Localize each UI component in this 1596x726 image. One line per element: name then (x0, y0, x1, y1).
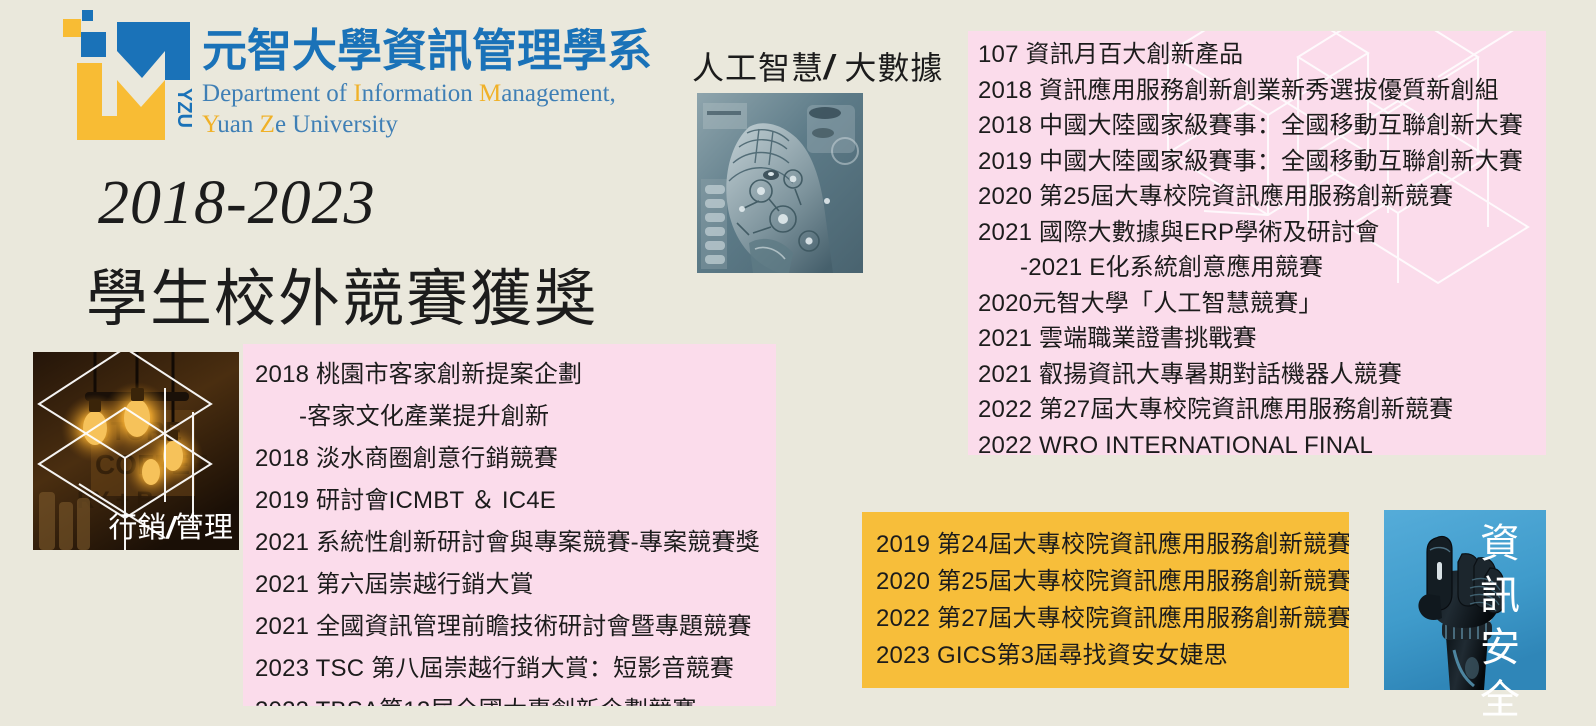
list-item: 2018 淡水商圈創意行銷競賽 (255, 438, 776, 480)
ai-heading-after: 大數據 (834, 50, 943, 86)
list-item: 2021 國際大數據與ERP學術及研討會 (978, 215, 1546, 251)
ai-awards-list: 107 資訊月百大創新產品 2018 資訊應用服務創新創業新秀選拔優質新創組 2… (968, 31, 1546, 455)
list-item: 2022 第27屆大專校院資訊應用服務創新競賽 (876, 600, 1349, 637)
list-item: 2022 WRO INTERNATIONAL FINAL (978, 428, 1546, 456)
list-item: 2023 TSC 第八屆崇越行銷大賞：短影音競賽 (255, 648, 776, 690)
list-item: 2018 資訊應用服務創新創業新秀選拔優質新創組 (978, 73, 1546, 109)
list-item: 2020 第25屆大專校院資訊應用服務創新競賽 (978, 179, 1546, 215)
logo-en1-e: M (479, 80, 501, 107)
logo-en2-b: uan (217, 111, 259, 138)
logo-en1-f: anagement, (501, 80, 616, 107)
security-robotic-hand-photo (1384, 510, 1546, 690)
list-item: 2021 叡揚資訊大專暑期對話機器人競賽 (978, 357, 1546, 393)
list-item: 2021 系統性創新研討會與專案競賽-專案競賽獎 (255, 522, 776, 564)
list-item: 2021 第六屆崇越行銷大賞 (255, 564, 776, 606)
list-item: 2021 雲端職業證書挑戰賽 (978, 321, 1546, 357)
logo-en1-a: D (202, 80, 220, 107)
logo-chinese-name: 元智大學資訊管理學系 (202, 26, 642, 76)
list-item: 2022 第27屆大專校院資訊應用服務創新競賽 (978, 392, 1546, 428)
logo-en2-d: e University (275, 111, 398, 138)
list-item: 2023 TBSA第12屆全國大專創新企劃競賽 (255, 690, 776, 706)
logo-en1-d: nformation (362, 80, 479, 107)
poster-canvas: YZU 元智大學資訊管理學系 Department of Information… (0, 0, 1596, 718)
list-item: -客家文化產業提升創新 (255, 396, 776, 438)
department-logo: YZU 元智大學資訊管理學系 Department of Information… (62, 8, 642, 148)
marketing-awards-panel: 2018 桃園市客家創新提案企劃 -客家文化產業提升創新 2018 淡水商圈創意… (243, 344, 776, 706)
list-item: 2020 第25屆大專校院資訊應用服務創新競賽 (876, 563, 1349, 600)
list-item: 2019 中國大陸國家級賽事：全國移動互聯創新大賽 (978, 144, 1546, 180)
list-item: 2018 桃園市客家創新提案企劃 (255, 354, 776, 396)
ai-awards-panel: 107 資訊月百大創新產品 2018 資訊應用服務創新創業新秀選拔優質新創組 2… (968, 31, 1546, 455)
ai-heading-slash: / (824, 49, 834, 87)
list-item: 107 資訊月百大創新產品 (978, 37, 1546, 73)
logo-en2-a: Y (202, 111, 217, 138)
security-awards-list: 2019 第24屆大專校院資訊應用服務創新競賽 2020 第25屆大專校院資訊應… (862, 512, 1349, 674)
logo-english-line2: Yuan Ze University (202, 109, 642, 140)
logo-text-block: 元智大學資訊管理學系 Department of Information Man… (202, 26, 642, 140)
marketing-awards-list: 2018 桃園市客家創新提案企劃 -客家文化產業提升創新 2018 淡水商圈創意… (243, 344, 776, 706)
list-item: 2020元智大學「人工智慧競賽」 (978, 286, 1546, 322)
logo-en2-c: Z (260, 111, 275, 138)
yzu-logo-mark-icon: YZU (62, 8, 194, 144)
title-year-range: 2018-2023 (98, 168, 376, 239)
list-item: 2019 研討會ICMBT ＆ IC4E (255, 480, 776, 522)
list-item: 2018 中國大陸國家級賽事：全國移動互聯創新大賽 (978, 108, 1546, 144)
svg-text:YZU: YZU (173, 88, 194, 128)
list-item: 2023 GICS第3屆尋找資安女婕思 (876, 637, 1349, 674)
ai-robotic-face-photo (697, 93, 863, 273)
logo-en1-c: I (353, 80, 361, 107)
page-title: 學生校外競賽獲獎 (86, 248, 598, 338)
security-awards-panel: 2019 第24屆大專校院資訊應用服務創新競賽 2020 第25屆大專校院資訊應… (862, 512, 1349, 688)
logo-english-line1: Department of Information Management, (202, 78, 642, 109)
list-item: 2021 全國資訊管理前瞻技術研討會暨專題競賽 (255, 606, 776, 648)
ai-heading-before: 人工智慧 (692, 50, 824, 86)
logo-en1-b: epartment of (220, 80, 353, 107)
list-item: -2021 E化系統創意應用競賽 (978, 250, 1546, 286)
marketing-bulbs-photo: STORE COFFEE RY + B (33, 352, 239, 550)
list-item: 2019 第24屆大專校院資訊應用服務創新競賽 (876, 526, 1349, 563)
ai-bigdata-heading: 人工智慧/ 大數據 (692, 43, 943, 89)
